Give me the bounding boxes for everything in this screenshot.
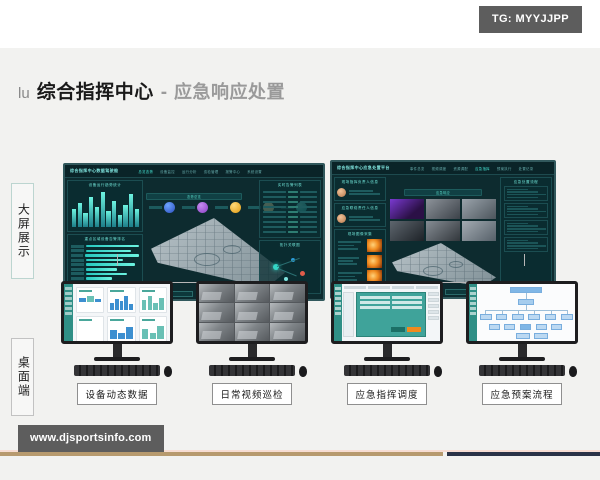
card-stat [107,316,135,342]
flowchart-canvas[interactable] [477,284,575,341]
desktop-video-patrol[interactable]: 日常视频巡检 [196,281,308,398]
monitor-screen[interactable] [466,281,578,344]
bottom-accent-bar [0,452,600,456]
tg-watermark-badge: TG: MYYJJPP [479,6,582,33]
nav-item[interactable]: 报警中心 [225,169,240,174]
caption-device-data: 设备动态数据 [77,383,156,405]
slide-canvas: lu 综合指挥中心 - 应急响应处置 大屏展示 桌面端 综合指挥中心数据驾驶舱 … [0,48,600,480]
app-sidebar[interactable] [469,284,477,341]
caption-video-patrol: 日常视频巡检 [212,383,291,405]
flow-node-level4[interactable] [489,324,500,330]
flow-link [485,310,567,311]
panel-title: 现场指挥负责人信息 [335,178,385,186]
card-bar [107,287,135,313]
map-ring [223,245,241,254]
monitor-screen[interactable] [196,281,308,344]
nav-item[interactable]: 应急指挥 [475,166,490,171]
desktop-device-data[interactable]: 设备动态数据 [61,281,173,398]
cctv-cell[interactable] [199,284,234,302]
video-feed-cell[interactable] [462,199,496,219]
bottom-bar-navy-segment [447,452,600,456]
plan-step-list [504,186,548,287]
nav-item[interactable]: 总览态势 [138,169,153,174]
video-wall-grid[interactable] [390,199,496,241]
big-screen-normal-subtab[interactable]: 态势总览 [146,193,242,200]
nav-item[interactable]: 运行分析 [182,169,197,174]
plan-step [504,186,548,201]
table-row [263,215,317,219]
video-feed-cell[interactable] [426,199,460,219]
caption-command-dispatch: 应急指挥调度 [347,383,426,405]
big-screen-normal-header: 综合指挥中心数据驾驶舱 总览态势 设备监控 运行分析 巡检管理 报警中心 系统设… [65,165,323,178]
kpi-item [182,202,208,213]
desktop-emergency-plan[interactable]: 应急预案流程 [466,281,578,398]
list-item[interactable] [338,255,382,268]
video-feed-cell[interactable] [390,199,424,219]
monitor-neck [518,344,527,357]
flow-node-level4[interactable] [504,324,515,330]
app-sidebar[interactable] [64,284,73,341]
monitor-neck [383,344,392,357]
app-sidebar[interactable] [334,284,342,341]
side-label-big-screen: 大屏展示 [11,183,34,279]
flow-node-level3[interactable] [561,314,573,320]
big-screen-emergency-header: 综合指挥中心应急处置平台 事件总览 视频调度 资源调配 应急指挥 预案执行 处置… [332,162,554,175]
mouse[interactable] [434,366,442,377]
table-row [263,210,317,214]
table-row [263,200,317,204]
app-tree-panel[interactable] [343,292,354,337]
big-screen-emergency-nav[interactable]: 事件总览 视频调度 资源调配 应急指挥 预案执行 处置记录 [410,166,534,171]
list-item[interactable] [338,239,382,252]
monitor-neck [113,344,122,357]
video-feed-cell[interactable] [462,221,496,241]
flow-node-level5[interactable] [516,333,530,339]
panel-title: 设备运行趋势统计 [68,181,142,189]
big-screen-emergency-logo: 综合指挥中心应急处置平台 [337,165,390,171]
panel-title: 应急联络责任人信息 [335,204,385,212]
table-row [263,220,317,224]
panel-commander: 现场指挥负责人信息 [334,177,386,201]
monitor-screen[interactable] [61,281,173,344]
plan-step [504,203,548,218]
title-separator: - [161,82,167,104]
keyboard[interactable] [479,365,565,376]
card-bar [139,287,167,313]
mouse[interactable] [164,366,172,377]
nav-item[interactable]: 资源调配 [453,166,468,171]
bottom-bar-tan-segment [0,452,443,456]
panel-title: 应急处置流程 [501,178,551,186]
app-toolbar[interactable] [344,286,438,289]
connector-line [117,254,118,266]
big-screen-emergency[interactable]: 综合指挥中心应急处置平台 事件总览 视频调度 资源调配 应急指挥 预案执行 处置… [330,160,556,299]
cctv-cell[interactable] [199,323,234,341]
flow-node-level3[interactable] [545,314,557,320]
topology-link [277,258,300,267]
cctv-cell[interactable] [270,284,305,302]
incident-thumb-list [338,239,382,283]
title-subtitle: 应急响应处置 [174,78,285,104]
side-label-desktop: 桌面端 [11,338,34,416]
map-ring [449,261,463,268]
dialog-cancel-button[interactable] [391,327,405,332]
subtab-label: 态势总览 [187,194,201,199]
big-screen-emergency-subtab[interactable]: 应急响应 [404,189,482,196]
flow-node-level3[interactable] [480,314,492,320]
big-screen-emergency-body: 应急响应 现场指挥负责人信息 应急联络责任人信息 [332,175,554,297]
fire-thumbnail-icon [367,255,382,268]
keyboard[interactable] [344,365,430,376]
table-row [263,190,317,194]
page-title: lu 综合指挥中心 - 应急响应处置 [18,77,285,104]
dialog-confirm-button[interactable] [407,327,421,332]
cctv-cell[interactable] [270,323,305,341]
flow-node-level4[interactable] [536,324,547,330]
caption-emergency-plan: 应急预案流程 [482,383,561,405]
keyboard[interactable] [74,365,160,376]
top-white-strip: TG: MYYJJPP [0,0,600,48]
plan-step [504,220,548,235]
monitor-base [364,357,410,361]
card-stat [139,316,167,342]
table-row [263,205,317,209]
cctv-grid[interactable] [199,284,305,341]
panel-liaison: 应急联络责任人信息 [334,203,386,227]
subtab-label: 应急响应 [436,190,450,195]
title-prefix: lu [18,85,30,102]
panel-title: 重点区域设备告警排名 [68,235,142,243]
big-screen-normal-logo: 综合指挥中心数据驾驶舱 [70,168,118,174]
monitor-base [94,357,140,361]
alarm-table [263,190,317,234]
nav-item[interactable]: 处置记录 [519,166,534,171]
card-pie [76,316,104,342]
title-main: 综合指挥中心 [37,77,154,104]
cctv-cell[interactable] [235,303,270,321]
nav-item[interactable]: 预案执行 [497,166,512,171]
monitor-base [229,357,275,361]
video-feed-cell[interactable] [426,221,460,241]
monitor-base [499,357,545,361]
flow-node-level4[interactable] [551,324,562,330]
desktop-command-dispatch[interactable]: 应急指挥调度 [331,281,443,398]
cctv-cell[interactable] [235,323,270,341]
topology-node [300,271,305,276]
table-row [263,225,317,229]
fire-thumbnail-icon [367,239,382,252]
flowchart-app [469,284,575,341]
monitor-neck [248,344,257,357]
avatar [337,188,346,197]
flow-node-level5[interactable] [534,333,548,339]
person-row [335,212,385,225]
flow-node-level3[interactable] [512,314,524,320]
dashboard-grid [73,284,170,341]
person-row [335,186,385,199]
slide-page: TG: MYYJJPP lu 综合指挥中心 - 应急响应处置 大屏展示 桌面端 … [0,0,600,480]
table-row [263,195,317,199]
video-feed-cell[interactable] [390,221,424,241]
site-watermark: www.djsportsinfo.com [18,425,164,452]
dispatch-dialog[interactable] [356,292,426,337]
flow-node-level4[interactable] [520,324,531,330]
map-ring [423,266,443,276]
connector-line [524,254,525,266]
card-kpi [76,287,104,313]
table-row [263,230,317,234]
panel-title: 现场图像采集 [335,230,385,238]
dialog-fields[interactable] [360,296,422,309]
nav-item[interactable]: 系统设置 [247,169,262,174]
vertical-bar-chart [72,190,139,227]
kpi-item [149,202,175,213]
dashboard-device-data [64,284,170,341]
mouse[interactable] [569,366,577,377]
cctv-cell[interactable] [270,303,305,321]
nav-item[interactable]: 事件总览 [410,166,425,171]
panel-title: 实时告警列表 [260,181,320,189]
keyboard[interactable] [209,365,295,376]
avatar [337,214,346,223]
flow-node-level3[interactable] [496,314,508,320]
nav-item[interactable]: 巡检管理 [204,169,219,174]
app-main [342,284,440,341]
monitor-screen[interactable] [331,281,443,344]
big-screen-normal-nav[interactable]: 总览态势 设备监控 运行分析 巡检管理 报警中心 系统设置 [138,169,262,174]
person-details [349,216,383,221]
map-ring [194,253,220,266]
panel-device-trend: 设备运行趋势统计 [67,180,143,232]
flow-node-level3[interactable] [528,314,540,320]
cctv-cell[interactable] [199,303,234,321]
app-action-panel[interactable] [428,292,439,337]
panel-alarm-list: 实时告警列表 [259,180,321,238]
mouse[interactable] [299,366,307,377]
cctv-cell[interactable] [235,284,270,302]
nav-item[interactable]: 设备监控 [160,169,175,174]
topology-link [278,268,297,276]
panel-plan-flow: 应急处置流程 [500,177,552,291]
panel-title: 拓扑关联图 [260,241,320,249]
dispatch-form-app [334,284,440,341]
person-details [349,190,383,195]
plan-step [504,237,548,252]
nav-item[interactable]: 视频调度 [432,166,447,171]
kpi-item [215,202,241,213]
